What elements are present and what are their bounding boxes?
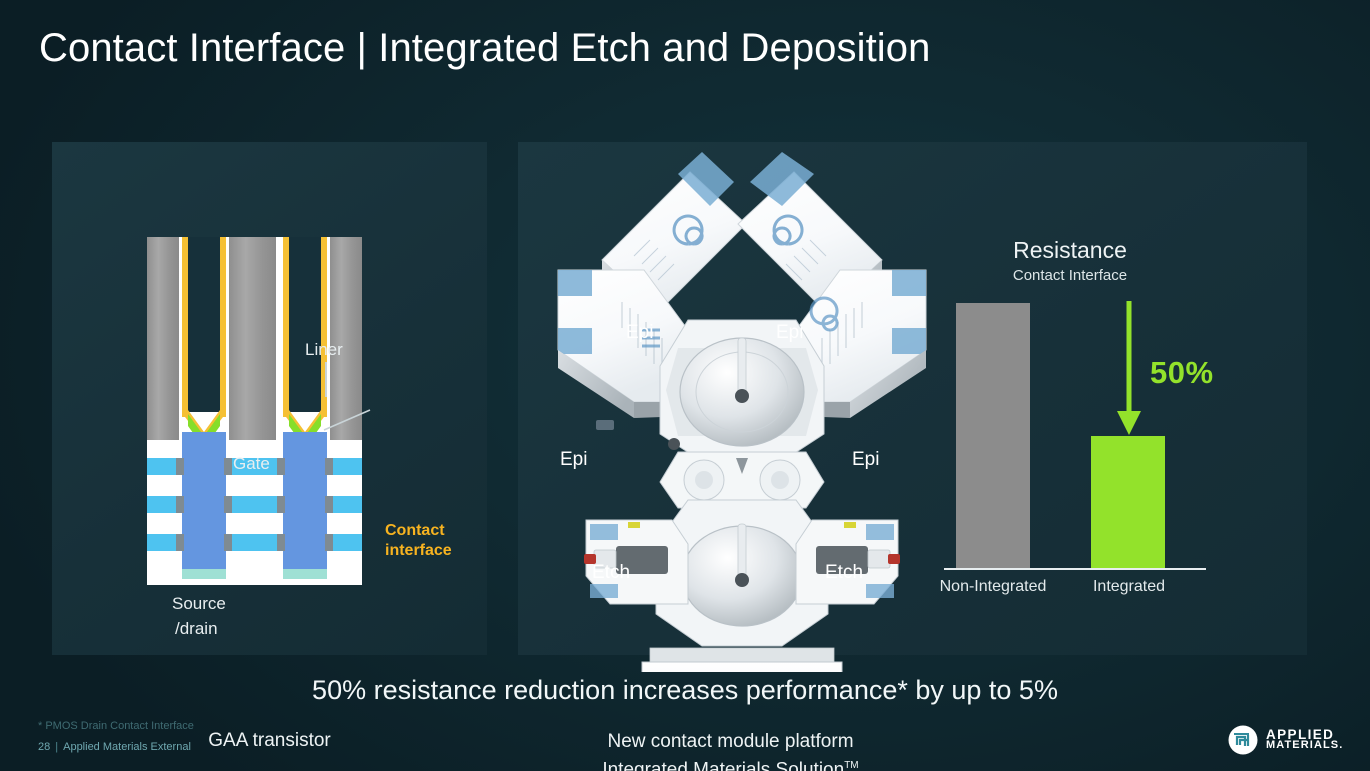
summary-banner: 50% resistance reduction increases perfo… — [0, 675, 1370, 706]
contact-interface-label-line1: Contact — [385, 521, 515, 541]
gaa-transistor-diagram: Liner Gate Contact interface Source /dra… — [52, 142, 487, 655]
slide: Contact Interface | Integrated Etch and … — [0, 0, 1370, 771]
source-drain-label-line1: Source — [172, 594, 226, 614]
page-number: 28 — [38, 741, 50, 753]
cluster-tool-graphic — [538, 152, 938, 672]
chamber-label-epi-left: Epi — [560, 449, 587, 471]
gate-label: Gate — [233, 454, 270, 474]
gaa-transistor-svg — [52, 142, 487, 655]
applied-materials-mark-icon — [1228, 725, 1258, 755]
chart-baseline-axis — [944, 568, 1206, 570]
reduction-percent-label: 50% — [1150, 355, 1214, 391]
gaa-transistor-panel: Liner Gate Contact interface Source /dra… — [52, 142, 487, 655]
platform-caption-line2: Integrated Materials SolutionTM — [538, 754, 923, 771]
chart-subtitle: Contact Interface — [930, 267, 1210, 284]
platform-caption-line1: New contact module platform — [538, 730, 923, 754]
applied-materials-logo: APPLIED MATERIALS. — [1228, 725, 1343, 755]
trademark-mark: TM — [844, 760, 858, 771]
cluster-tool-svg — [538, 152, 938, 672]
chart-category-non-integrated: Non-Integrated — [939, 578, 1047, 596]
contact-interface-label: Contact interface — [385, 521, 515, 561]
chamber-label-epi-right: Epi — [852, 449, 879, 471]
chart-title: Resistance — [930, 237, 1210, 264]
reduction-arrow-icon — [1113, 299, 1145, 439]
chamber-label-etch-left: Etch — [592, 562, 630, 584]
footer-bar: 28|Applied Materials External — [38, 741, 191, 753]
platform-and-chart-panel: Epi Epi Epi Epi Etch Etch New contact mo… — [518, 142, 1307, 655]
mainframe-base — [642, 648, 842, 672]
bar-integrated — [1091, 436, 1165, 568]
footer-label: Applied Materials External — [63, 741, 191, 753]
chamber-label-epi-top-left: Epi — [626, 322, 653, 344]
platform-caption-line2-text: Integrated Materials Solution — [602, 759, 844, 771]
resistance-bar-chart: Resistance Contact Interface 50% Non-Int… — [930, 237, 1220, 607]
footnote: * PMOS Drain Contact Interface — [38, 720, 194, 732]
chart-category-integrated: Integrated — [1083, 578, 1175, 596]
platform-caption: New contact module platform Integrated M… — [538, 730, 923, 771]
chamber-label-etch-right: Etch — [825, 562, 863, 584]
logo-line2: MATERIALS. — [1266, 740, 1343, 751]
source-drain-label-line2: /drain — [175, 619, 218, 639]
liner-label: Liner — [305, 340, 343, 360]
liner-leader-line — [325, 362, 327, 397]
footer-separator: | — [50, 741, 63, 753]
contact-interface-label-line2: interface — [385, 541, 515, 561]
page-title: Contact Interface | Integrated Etch and … — [39, 26, 930, 71]
bar-non-integrated — [956, 303, 1030, 568]
chamber-label-epi-top-right: Epi — [776, 322, 803, 344]
logo-wordmark: APPLIED MATERIALS. — [1266, 729, 1343, 751]
